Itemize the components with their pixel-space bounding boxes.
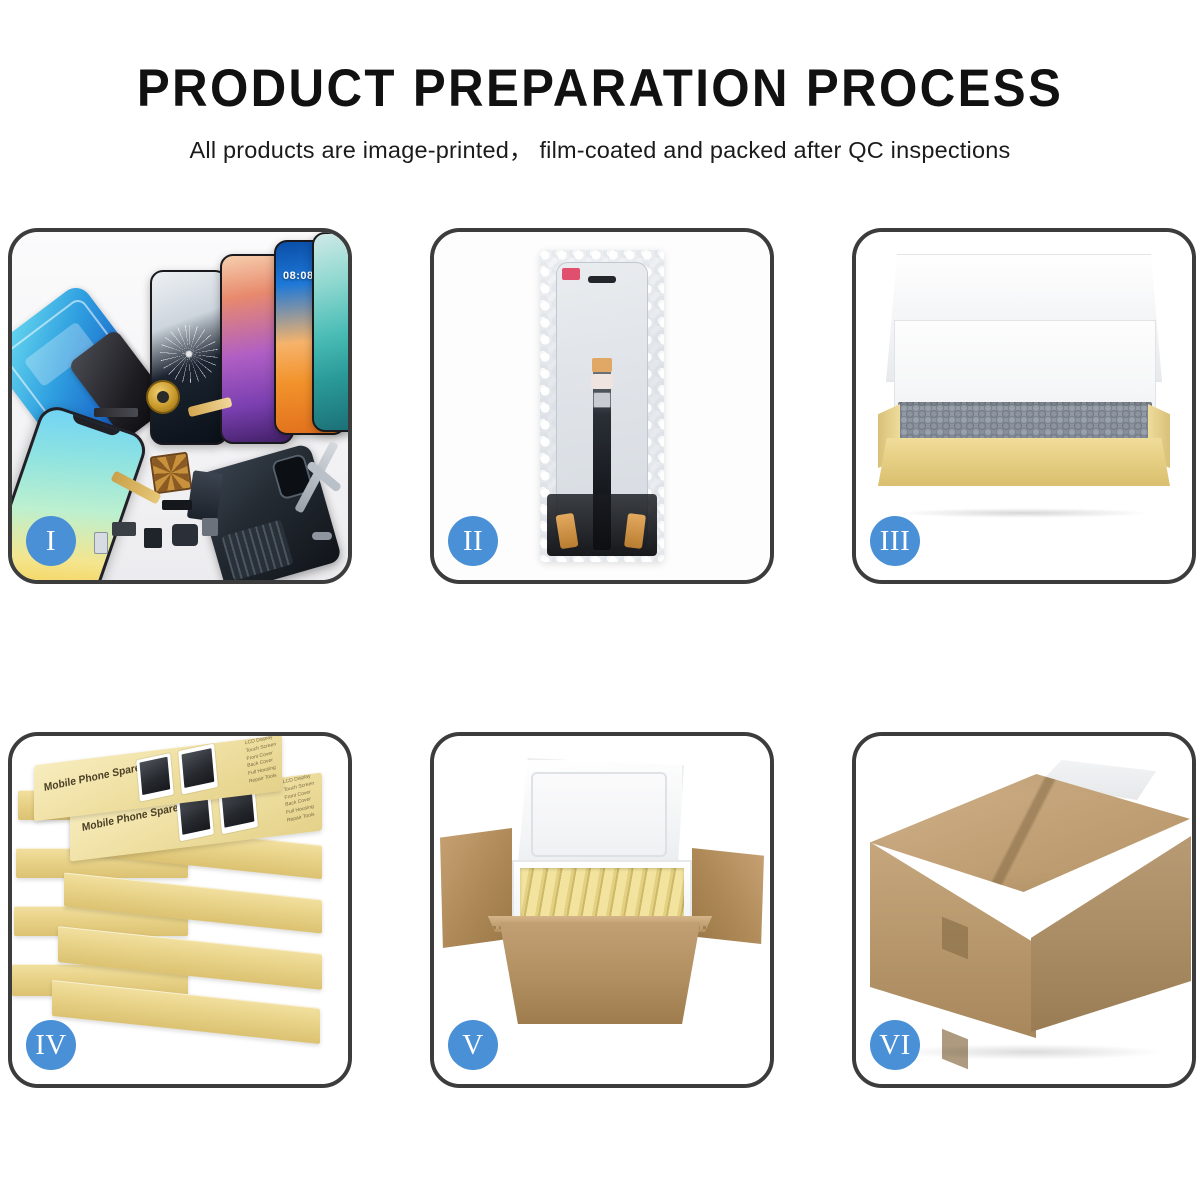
carton-shadow — [896, 1044, 1164, 1060]
small-part-c — [172, 524, 198, 546]
box-shadow — [896, 508, 1152, 518]
screw-part — [312, 532, 332, 540]
connector-grey — [593, 392, 611, 408]
sim-tray-part — [94, 532, 108, 554]
small-part-b — [144, 528, 162, 548]
ic-chip-part — [150, 452, 193, 495]
small-part-a — [112, 522, 136, 536]
step-badge-5: V — [448, 1020, 498, 1070]
step-badge-6: VI — [870, 1020, 920, 1070]
step-badge-1: I — [26, 516, 76, 566]
step-badge-3: III — [870, 516, 920, 566]
phone-clock-label: 08:08 — [283, 270, 314, 282]
connector-white — [591, 374, 613, 389]
speaker-part — [146, 380, 180, 414]
connector-gold — [592, 358, 612, 372]
step-badge-2: II — [448, 516, 498, 566]
retail-box-window-back-a — [136, 753, 174, 802]
step-badge-4: IV — [26, 1020, 76, 1070]
retail-box-feature-list-back: LCD Display Touch Screen Front Cover Bac… — [245, 736, 280, 786]
page-title: PRODUCT PREPARATION PROCESS — [42, 60, 1158, 117]
step-panel-4[interactable]: Mobile Phone Spare Parts LCD Display Tou… — [8, 732, 352, 1088]
carton-body — [486, 922, 714, 1024]
screen-notch — [588, 276, 616, 283]
qc-sticker — [562, 268, 580, 280]
page-subtitle: All products are image-printed， film-coa… — [0, 131, 1200, 165]
step-panel-3[interactable]: III — [852, 228, 1196, 584]
bubble-wrap-bag — [540, 250, 664, 562]
phone-cracked-screen — [150, 270, 228, 445]
page-header: PRODUCT PREPARATION PROCESS All products… — [0, 0, 1200, 165]
small-part-d — [202, 518, 218, 536]
retail-box-feature-list-front: LCD Display Touch Screen Front Cover Bac… — [283, 773, 318, 826]
step-panel-5[interactable]: V — [430, 732, 774, 1088]
phone-teal-display — [312, 232, 348, 432]
process-step-grid: 08:08 I — [0, 228, 1200, 1088]
step-panel-2[interactable]: II — [430, 228, 774, 584]
step-panel-1[interactable]: 08:08 I — [8, 228, 352, 584]
small-part-e — [162, 500, 192, 510]
step-panel-6[interactable]: VI — [852, 732, 1196, 1088]
antenna-strip-part — [94, 408, 138, 417]
box-front-panel — [878, 438, 1170, 486]
retail-box-window-back-b — [178, 744, 218, 795]
